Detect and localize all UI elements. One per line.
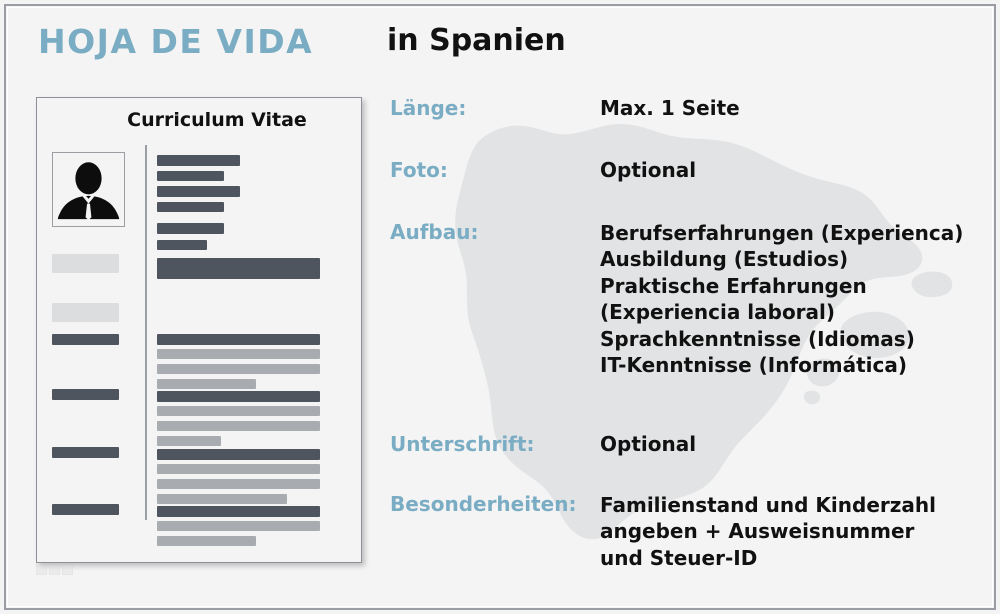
info-label: Unterschrift:: [390, 432, 534, 456]
cv-line: [157, 406, 320, 416]
info-value-line: Praktische Erfahrungen: [600, 273, 963, 299]
info-value-line: Familienstand und Kinderzahl: [600, 492, 936, 518]
cv-line: [157, 240, 207, 250]
info-value-line: Ausbildung (Estudios): [600, 246, 963, 272]
cv-document-preview: Curriculum Vitae: [36, 97, 362, 563]
cv-left-heading: [52, 504, 119, 515]
info-value-line: und Steuer-ID: [600, 545, 936, 571]
cv-section-banner: [157, 258, 320, 279]
cv-line: [157, 364, 320, 374]
cv-line: [157, 436, 221, 446]
cv-line: [157, 171, 224, 181]
cv-section-heading: [157, 334, 320, 345]
info-value-line: Sprachkenntnisse (Idiomas): [600, 326, 963, 352]
cv-line: [157, 421, 320, 431]
cv-column-divider: [145, 145, 147, 520]
cv-left-heading: [52, 334, 119, 345]
page-title-left: HOJA DE VIDA: [38, 22, 313, 61]
info-value: Max. 1 Seite: [600, 96, 740, 120]
cv-photo-placeholder: [52, 152, 125, 227]
cv-section-heading: [157, 506, 320, 517]
site-logo-watermark: [36, 562, 82, 576]
info-value-line: Berufserfahrungen (Experienca): [600, 220, 963, 246]
cv-line: [157, 155, 240, 166]
info-label: Aufbau:: [390, 220, 478, 244]
cv-line: [157, 521, 320, 531]
cv-left-block: [52, 254, 119, 273]
cv-line: [157, 202, 224, 212]
cv-section-heading: [157, 449, 320, 460]
cv-line: [157, 536, 256, 546]
info-value-group: Berufserfahrungen (Experienca) Ausbildun…: [600, 220, 963, 378]
cv-preview-title: Curriculum Vitae: [37, 109, 361, 131]
cv-line: [157, 349, 320, 359]
cv-line: [157, 186, 240, 197]
info-value: Optional: [600, 432, 696, 456]
cv-line: [157, 223, 224, 234]
person-avatar-icon: [53, 153, 124, 226]
cv-line: [157, 479, 320, 489]
info-label: Foto:: [390, 158, 448, 182]
cv-line: [157, 379, 256, 389]
cv-line: [157, 464, 320, 474]
info-value-line: angeben + Ausweisnummer: [600, 518, 936, 544]
info-value-group: Familienstand und Kinderzahl angeben + A…: [600, 492, 936, 571]
cv-left-block: [52, 303, 119, 322]
info-label: Besonderheiten:: [390, 492, 576, 516]
cv-left-heading: [52, 389, 119, 400]
info-value: Optional: [600, 158, 696, 182]
info-label: Länge:: [390, 96, 466, 120]
cv-section-heading: [157, 391, 320, 402]
page-title-right: in Spanien: [387, 23, 566, 58]
info-value-line: IT-Kenntnisse (Informática): [600, 352, 963, 378]
info-value-line: (Experiencia laboral): [600, 299, 963, 325]
infographic-canvas: HOJA DE VIDA in Spanien Curriculum Vitae: [0, 0, 1000, 614]
cv-line: [157, 494, 287, 504]
cv-left-heading: [52, 447, 119, 458]
